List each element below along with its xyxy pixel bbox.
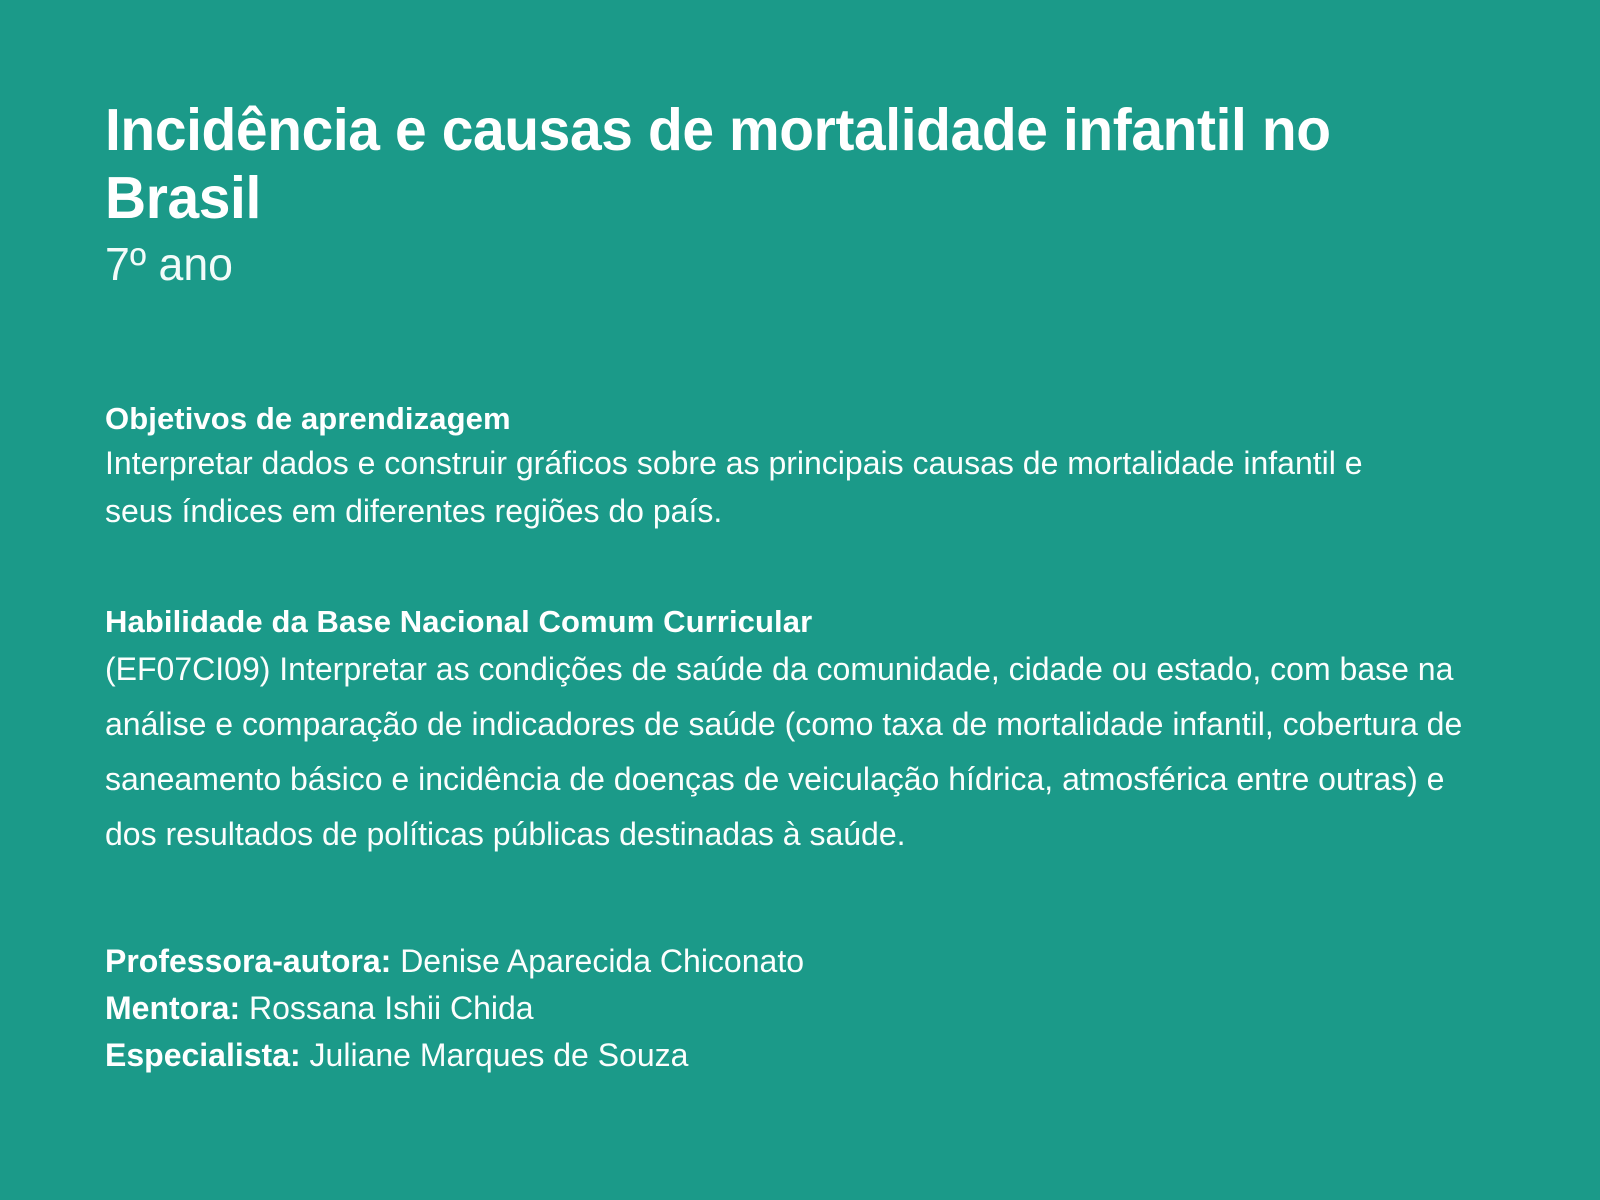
bncc-heading: Habilidade da Base Nacional Comum Curric…: [105, 603, 1475, 642]
objectives-heading: Objetivos de aprendizagem: [105, 400, 1475, 439]
page-subtitle: 7º ano: [105, 237, 1453, 292]
credits-section: Professora-autora: Denise Aparecida Chic…: [105, 938, 1495, 1079]
credit-label: Especialista:: [105, 1037, 301, 1073]
credit-label: Mentora:: [105, 990, 240, 1026]
objectives-body: Interpretar dados e construir gráficos s…: [105, 439, 1395, 535]
page-title: Incidência e causas de mortalidade infan…: [105, 96, 1417, 233]
title-block: Incidência e causas de mortalidade infan…: [105, 0, 1495, 292]
slide-root: Incidência e causas de mortalidade infan…: [0, 0, 1600, 1200]
credit-value: Rossana Ishii Chida: [249, 990, 534, 1026]
bncc-section: Habilidade da Base Nacional Comum Curric…: [105, 603, 1475, 862]
credit-value: Denise Aparecida Chiconato: [400, 943, 804, 979]
bncc-body: (EF07CI09) Interpretar as condições de s…: [105, 642, 1465, 862]
credit-line: Especialista: Juliane Marques de Souza: [105, 1032, 1495, 1079]
credit-line: Professora-autora: Denise Aparecida Chic…: [105, 938, 1495, 985]
credit-label: Professora-autora:: [105, 943, 391, 979]
objectives-section: Objetivos de aprendizagem Interpretar da…: [105, 400, 1475, 535]
credit-line: Mentora: Rossana Ishii Chida: [105, 985, 1495, 1032]
credit-value: Juliane Marques de Souza: [310, 1037, 689, 1073]
